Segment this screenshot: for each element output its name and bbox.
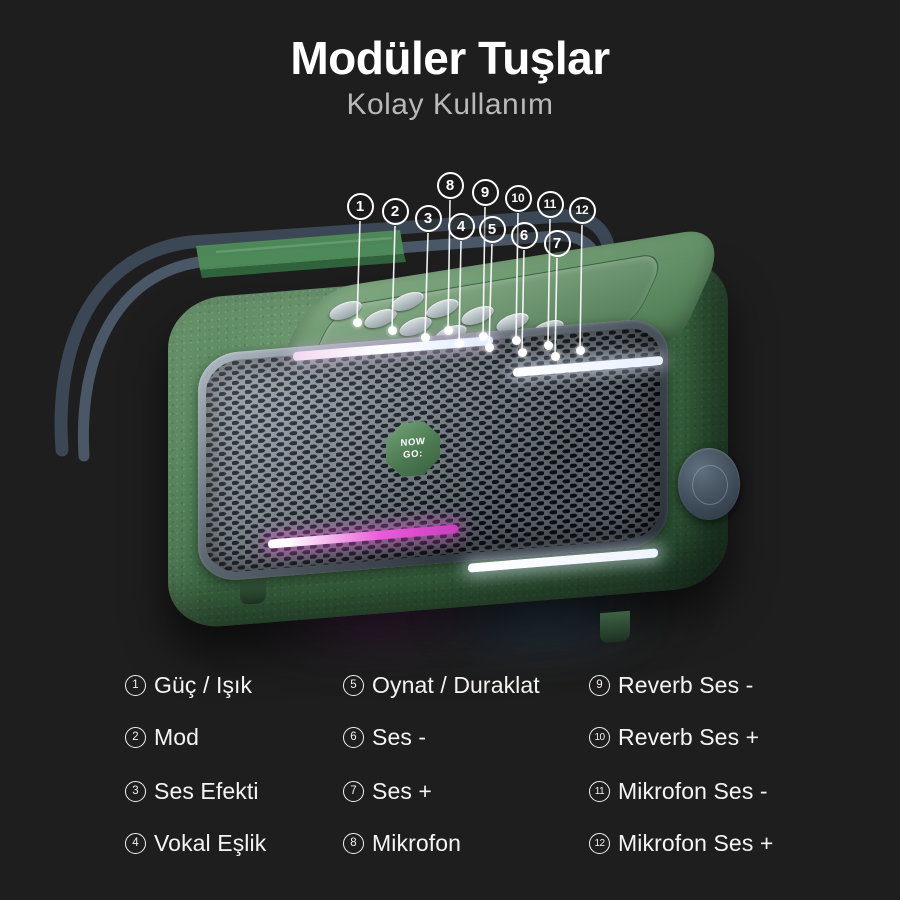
callout-marker-7[interactable]: 7 <box>544 230 571 257</box>
callout-marker-6[interactable]: 6 <box>511 222 538 249</box>
legend-item-5[interactable]: 5Oynat / Duraklat <box>343 672 540 699</box>
legend-item-12[interactable]: 12Mikrofon Ses + <box>589 830 773 857</box>
legend-item-2[interactable]: 2Mod <box>125 724 199 751</box>
page-subtitle: Kolay Kullanım <box>0 88 900 121</box>
legend-label-8: Mikrofon <box>372 830 461 857</box>
callout-marker-8[interactable]: 8 <box>437 172 464 199</box>
callout-marker-2[interactable]: 2 <box>382 198 409 225</box>
legend-number-1: 1 <box>125 675 146 696</box>
legend-number-11: 11 <box>589 781 610 802</box>
legend-number-8: 8 <box>343 833 364 854</box>
legend-number-9: 9 <box>589 675 610 696</box>
callout-marker-12[interactable]: 12 <box>569 197 596 224</box>
header: Modüler Tuşlar Kolay Kullanım <box>0 34 900 121</box>
callout-marker-9[interactable]: 9 <box>472 179 499 206</box>
callout-marker-3[interactable]: 3 <box>415 205 442 232</box>
legend-item-10[interactable]: 10Reverb Ses + <box>589 724 759 751</box>
legend-number-2: 2 <box>125 727 146 748</box>
legend-label-2: Mod <box>154 724 199 751</box>
legend-item-1[interactable]: 1Güç / Işık <box>125 672 252 699</box>
knob-ring <box>692 465 728 505</box>
legend-number-5: 5 <box>343 675 364 696</box>
callout-marker-10[interactable]: 10 <box>505 185 532 212</box>
legend-number-12: 12 <box>589 833 610 854</box>
speaker-foot-right <box>600 611 630 643</box>
callout-marker-1[interactable]: 1 <box>347 193 374 220</box>
legend-item-9[interactable]: 9Reverb Ses - <box>589 672 753 699</box>
legend-item-3[interactable]: 3Ses Efekti <box>125 778 259 805</box>
legend-item-6[interactable]: 6Ses - <box>343 724 426 751</box>
legend-label-3: Ses Efekti <box>154 778 259 805</box>
legend-number-7: 7 <box>343 781 364 802</box>
legend-label-4: Vokal Eşlik <box>154 830 266 857</box>
callout-marker-4[interactable]: 4 <box>448 213 475 240</box>
legend-number-6: 6 <box>343 727 364 748</box>
page-title: Modüler Tuşlar <box>0 34 900 82</box>
legend-label-10: Reverb Ses + <box>618 724 759 751</box>
speaker-device: NOW GO: <box>168 278 748 618</box>
legend-label-5: Oynat / Duraklat <box>372 672 540 699</box>
legend: 1Güç / Işık2Mod3Ses Efekti4Vokal Eşlik5O… <box>0 660 900 875</box>
legend-label-11: Mikrofon Ses - <box>618 778 768 805</box>
legend-item-4[interactable]: 4Vokal Eşlik <box>125 830 266 857</box>
legend-item-7[interactable]: 7Ses + <box>343 778 432 805</box>
legend-label-9: Reverb Ses - <box>618 672 753 699</box>
speaker-foot-left <box>240 577 266 605</box>
strap-mount-knob <box>678 448 740 520</box>
legend-item-8[interactable]: 8Mikrofon <box>343 830 461 857</box>
legend-label-12: Mikrofon Ses + <box>618 830 773 857</box>
legend-label-6: Ses - <box>372 724 426 751</box>
legend-number-4: 4 <box>125 833 146 854</box>
legend-label-7: Ses + <box>372 778 432 805</box>
legend-number-3: 3 <box>125 781 146 802</box>
callout-marker-11[interactable]: 11 <box>537 191 564 218</box>
callout-marker-5[interactable]: 5 <box>479 216 506 243</box>
infographic-canvas: Modüler Tuşlar Kolay Kullanım <box>0 0 900 900</box>
legend-label-1: Güç / Işık <box>154 672 252 699</box>
legend-item-11[interactable]: 11Mikrofon Ses - <box>589 778 768 805</box>
legend-number-10: 10 <box>589 727 610 748</box>
badge-line-2: GO: <box>403 448 423 461</box>
